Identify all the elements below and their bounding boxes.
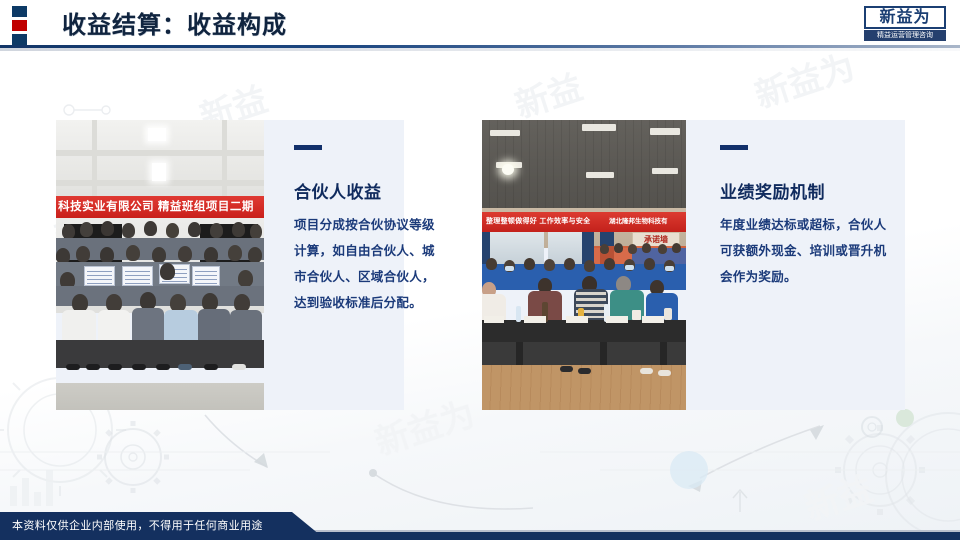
company-logo: 新益为 精益运营管理咨询 xyxy=(864,6,946,42)
logo-tagline: 精益运营管理咨询 xyxy=(864,30,946,41)
name-plate xyxy=(642,316,664,323)
header-divider-shadow xyxy=(0,48,960,51)
certificate xyxy=(192,266,220,286)
svg-text:新益为: 新益为 xyxy=(751,48,860,116)
card-body: 年度业绩达标或超标，合伙人可获额外现金、培训或晋升机会作为奖励。 xyxy=(720,212,888,290)
photo-banner-right: 湖北隆邦生物科技有 xyxy=(606,212,686,232)
slide-root: 新益为 新益 新益为 新益 新 新益 收益结算：收益构成 新益为 精益运营管理咨… xyxy=(0,0,960,540)
ceiling-light xyxy=(490,130,520,136)
ceiling-beam xyxy=(222,120,227,196)
card-title: 合伙人收益 xyxy=(294,178,382,203)
photo-banner-right-text: 湖北隆邦生物科技有 xyxy=(606,212,686,232)
ceiling-light xyxy=(586,172,614,178)
card-accent-bar xyxy=(720,145,748,150)
certificate xyxy=(122,266,153,286)
name-plate xyxy=(566,316,588,323)
conference-table xyxy=(482,320,686,342)
name-plate xyxy=(484,316,504,323)
photo-banner: 科技实业有限公司 精益班组项目二期 xyxy=(56,196,264,218)
marker-square-top xyxy=(12,6,27,17)
svg-text:新益: 新益 xyxy=(511,68,587,125)
paper-cup xyxy=(664,308,672,320)
ceiling-light xyxy=(148,128,166,141)
photo-banner-text: 科技实业有限公司 精益班组项目二期 xyxy=(56,196,260,218)
photo-floor xyxy=(56,383,264,410)
ceiling-light xyxy=(152,163,166,181)
ceiling-beam xyxy=(92,120,97,196)
photo-people-group xyxy=(56,218,264,383)
card-title: 业绩奖励机制 xyxy=(720,178,825,203)
slide-header: 收益结算：收益构成 xyxy=(0,0,960,52)
marker-square-middle xyxy=(12,20,27,31)
training-conference-room-photo: 整理整顿做得好 工作效率与安全 湖北隆邦生物科技有 承诺墙 xyxy=(482,120,686,410)
marker-square-bottom xyxy=(12,34,27,45)
paper-cup xyxy=(632,310,641,320)
ceiling-spotlight xyxy=(502,164,514,175)
water-bottle xyxy=(516,306,521,322)
group-photo-certificate-ceremony: 科技实业有限公司 精益班组项目二期 xyxy=(56,120,264,410)
ceiling-light xyxy=(582,124,616,131)
ceiling-beam xyxy=(56,150,264,156)
photo-audience xyxy=(482,246,686,324)
name-plate xyxy=(524,316,546,323)
pledge-wall-text: 承诺墙 xyxy=(633,233,679,245)
content-card-performance-reward: 整理整顿做得好 工作效率与安全 湖北隆邦生物科技有 承诺墙 xyxy=(482,120,905,410)
logo-name: 新益为 xyxy=(864,6,946,29)
ceiling-light xyxy=(652,168,678,174)
card-accent-bar xyxy=(294,145,322,150)
name-plate xyxy=(606,316,628,323)
certificate xyxy=(84,266,115,286)
svg-text:新益: 新益 xyxy=(801,470,877,527)
content-card-partner-earnings: 科技实业有限公司 精益班组项目二期 xyxy=(56,120,404,410)
footer-notice: 本资料仅供企业内部使用，不得用于任何商业用途 xyxy=(12,517,263,533)
header-marker-squares xyxy=(12,6,27,46)
ceiling-light xyxy=(650,128,680,135)
card-body: 项目分成按合伙协议等级计算，如自由合伙人、城市合伙人、区域合伙人，达到验收标准后… xyxy=(294,212,446,316)
page-title: 收益结算：收益构成 xyxy=(62,5,287,40)
